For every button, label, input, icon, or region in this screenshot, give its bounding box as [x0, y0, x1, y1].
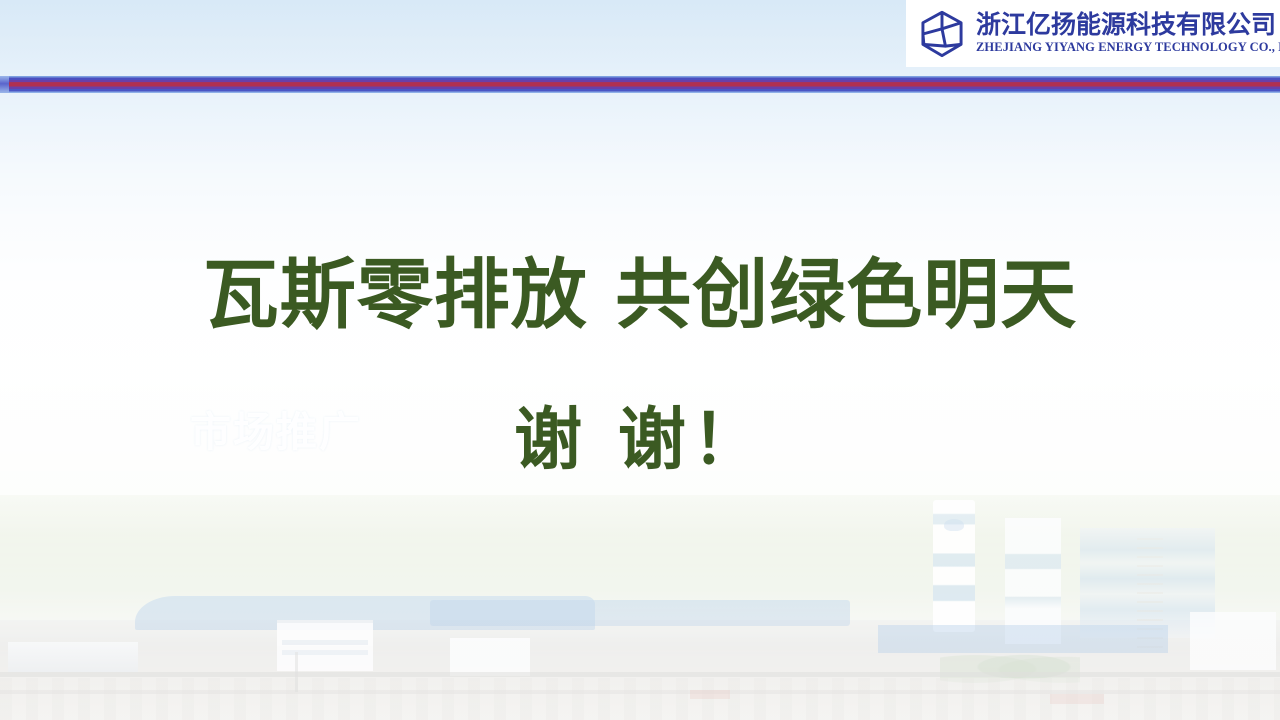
yard-rail-line	[0, 672, 1280, 677]
hexagon-crystal-logo-icon	[916, 8, 968, 60]
slide-canvas: 浙江亿扬能源科技有限公司 ZHEJIANG YIYANG ENERGY TECH…	[0, 0, 1280, 720]
yard-light-post	[295, 652, 298, 692]
company-name-block: 浙江亿扬能源科技有限公司 ZHEJIANG YIYANG ENERGY TECH…	[976, 12, 1280, 55]
decorative-rule-bar	[0, 76, 1280, 93]
background-photo	[0, 0, 1280, 720]
building-blue-warehouse-roof-2	[430, 600, 850, 626]
building-white-office	[277, 620, 373, 671]
company-name-cn: 浙江亿扬能源科技有限公司	[976, 12, 1280, 38]
building-white-block	[450, 638, 530, 676]
building-right-block	[1190, 612, 1276, 670]
building-left-sheds	[8, 642, 138, 672]
decorative-rule-end-cap	[0, 76, 9, 93]
building-office-windows	[282, 640, 368, 645]
yard-red-container	[690, 690, 730, 699]
chimney-logo-mark-icon	[944, 519, 964, 531]
slide-thanks-text: 谢 谢！	[0, 405, 1280, 476]
yard-red-container-2	[1050, 694, 1104, 704]
company-logo-plate: 浙江亿扬能源科技有限公司 ZHEJIANG YIYANG ENERGY TECH…	[906, 0, 1280, 67]
slide-headline: 瓦斯零排放 共创绿色明天	[0, 255, 1280, 335]
company-name-en: ZHEJIANG YIYANG ENERGY TECHNOLOGY CO., L…	[976, 40, 1280, 55]
